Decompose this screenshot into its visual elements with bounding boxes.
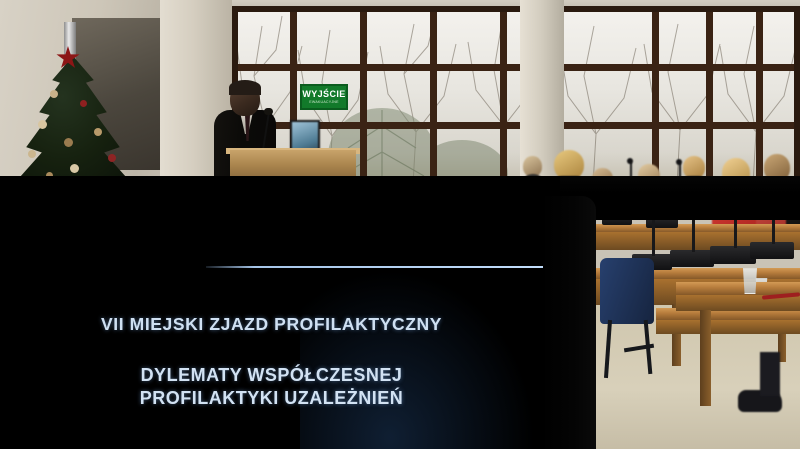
screen-bezel-right bbox=[540, 196, 596, 449]
microphone-head bbox=[627, 158, 633, 164]
microphone-base bbox=[750, 242, 794, 259]
slide-title-text: VII MIEJSKI ZJAZD PROFILAKTYCZNY bbox=[101, 314, 442, 334]
microphone-head bbox=[676, 159, 682, 165]
chair-leg bbox=[604, 320, 612, 378]
slide-subtitle: DYLEMATY WSPÓŁCZESNEJ PROFILAKTYKI UZALE… bbox=[0, 364, 543, 410]
tree-ornament bbox=[70, 164, 79, 173]
tree-ornament bbox=[38, 120, 47, 129]
conference-photo: WYJŚCIE EWAKUACYJNE bbox=[0, 0, 800, 449]
person-leg bbox=[760, 352, 780, 396]
chair-backrest bbox=[600, 258, 654, 324]
exit-sign-sublabel: EWAKUACYJNE bbox=[309, 101, 338, 105]
plastic-cup bbox=[742, 268, 758, 294]
desk-leg bbox=[700, 310, 711, 406]
speaker-hair bbox=[229, 80, 261, 95]
microphone-arm bbox=[652, 216, 655, 256]
christmas-tree bbox=[8, 38, 138, 190]
tree-ornament bbox=[50, 90, 58, 98]
desk-front-panel bbox=[656, 320, 800, 334]
exit-sign-label: WYJŚCIE bbox=[302, 90, 345, 99]
slide-title: VII MIEJSKI ZJAZD PROFILAKTYCZNY bbox=[0, 314, 543, 335]
tree-ornament bbox=[28, 150, 36, 158]
tree-ornament bbox=[94, 128, 102, 136]
slide-subtitle-line-2: PROFILAKTYKI UZALEŻNIEŃ bbox=[0, 387, 543, 410]
podium-microphone-head bbox=[264, 108, 273, 115]
tree-ornament bbox=[108, 154, 116, 162]
tree-ornament bbox=[64, 138, 73, 147]
chair-foreground bbox=[600, 258, 670, 378]
microphone-base bbox=[670, 250, 714, 267]
tree-ornament bbox=[80, 100, 87, 107]
exit-sign: WYJŚCIE EWAKUACYJNE bbox=[300, 84, 348, 110]
slide-divider-rule bbox=[206, 266, 543, 268]
slide-subtitle-line-1: DYLEMATY WSPÓŁCZESNEJ bbox=[0, 364, 543, 387]
